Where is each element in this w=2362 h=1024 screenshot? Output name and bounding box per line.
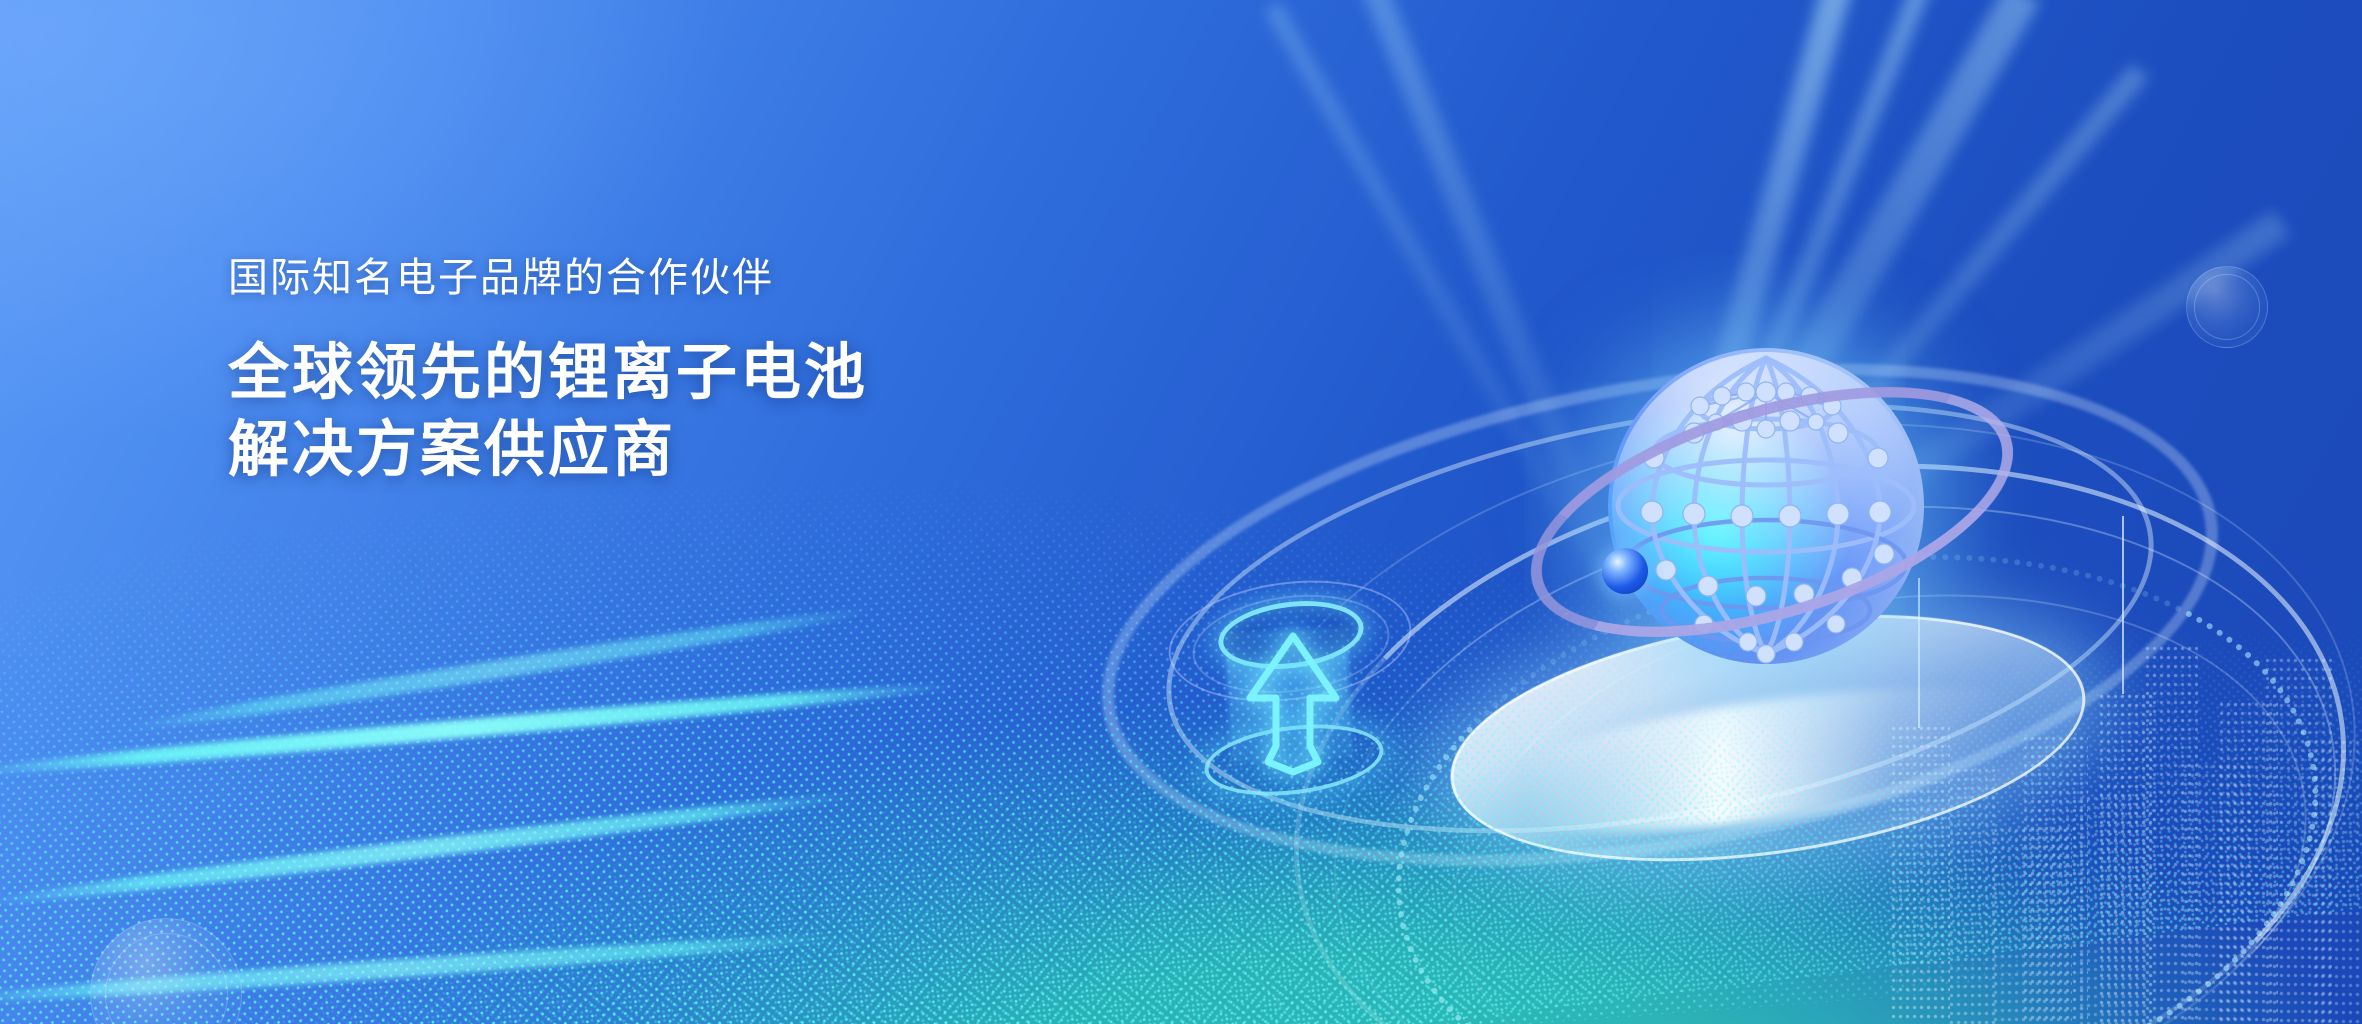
hero-banner: 国际知名电子品牌的合作伙伴 全球领先的锂离子电池 解决方案供应商 — [0, 0, 2362, 1024]
banner-copy: 国际知名电子品牌的合作伙伴 全球领先的锂离子电池 解决方案供应商 — [228, 258, 868, 488]
headline-line-2: 解决方案供应商 — [228, 411, 868, 488]
bubble-top-right — [2186, 266, 2268, 348]
bubble-rim — [2194, 274, 2260, 340]
banner-headline: 全球领先的锂离子电池 解决方案供应商 — [228, 334, 868, 488]
headline-line-1: 全球领先的锂离子电池 — [228, 334, 868, 411]
bubble-rim — [105, 933, 228, 1024]
banner-subtitle: 国际知名电子品牌的合作伙伴 — [228, 258, 868, 298]
